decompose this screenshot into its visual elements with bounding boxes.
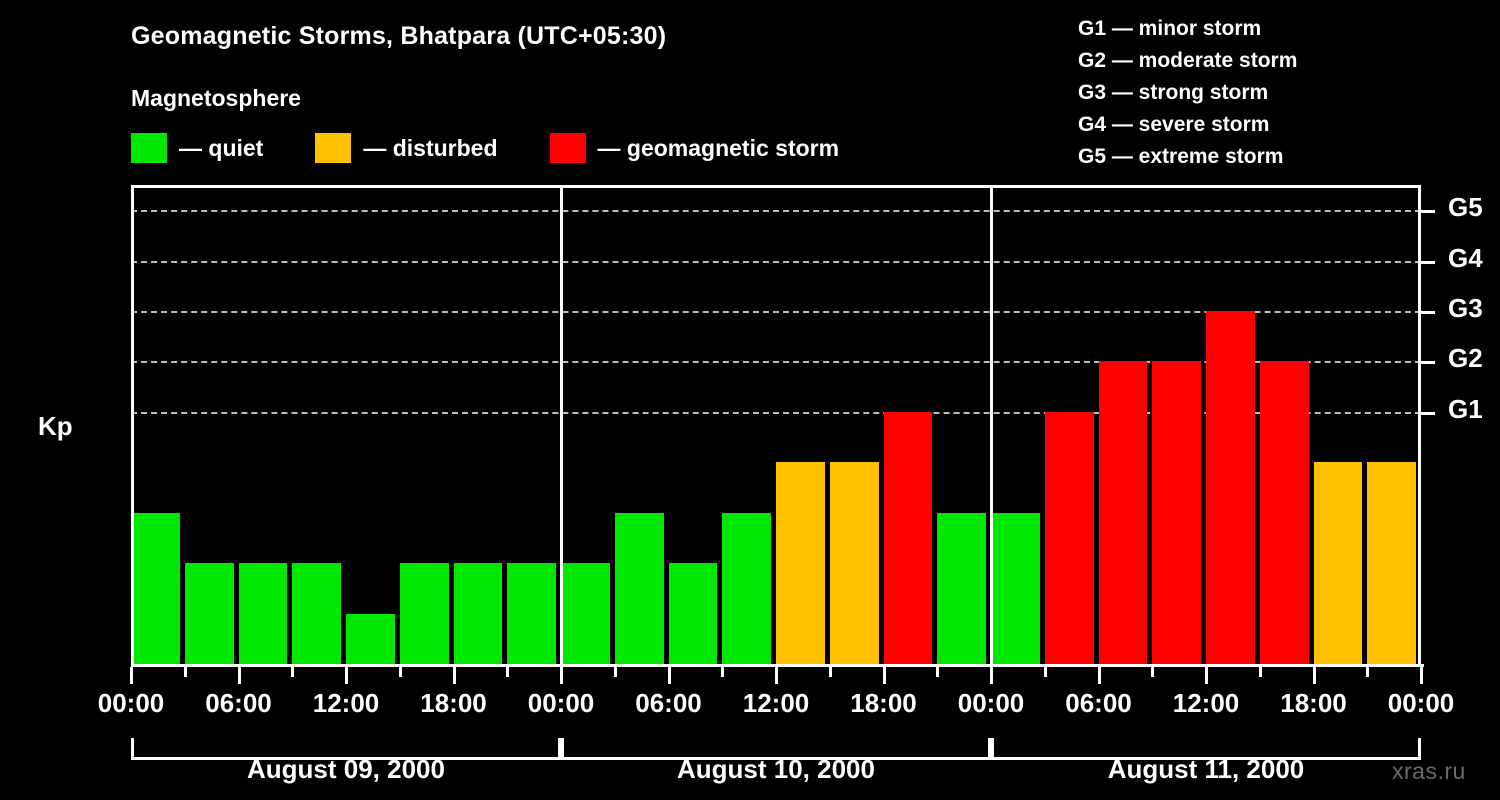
storm-scale-g4: G4 — severe storm xyxy=(1078,109,1297,141)
bar xyxy=(454,563,503,664)
storm-scale-g5: G5 — extreme storm xyxy=(1078,141,1297,173)
x-tick-minor xyxy=(399,667,402,677)
bar xyxy=(292,563,341,664)
g-tick-label-G5: G5 xyxy=(1448,192,1483,223)
watermark: xras.ru xyxy=(1392,758,1466,785)
bar xyxy=(1045,412,1094,664)
x-tick-minor xyxy=(614,667,617,677)
legend-swatch-quiet xyxy=(131,133,167,163)
x-tick-major xyxy=(560,667,563,684)
x-tick-minor xyxy=(1151,667,1154,677)
day-separator xyxy=(990,185,993,664)
x-tick-major xyxy=(668,667,671,684)
x-tick-major xyxy=(1098,667,1101,684)
bar xyxy=(722,513,771,664)
bar xyxy=(1152,361,1201,664)
bar xyxy=(1206,311,1255,664)
bar xyxy=(615,513,664,664)
bar xyxy=(131,513,180,664)
storm-scale-legend: G1 — minor storm G2 — moderate storm G3 … xyxy=(1078,13,1297,173)
bar xyxy=(1099,361,1148,664)
bar xyxy=(561,563,610,664)
x-tick-minor xyxy=(829,667,832,677)
legend-label-disturbed: — disturbed xyxy=(363,135,497,162)
bar xyxy=(884,412,933,664)
x-tick-major xyxy=(130,667,133,684)
bar xyxy=(1314,462,1363,664)
day-label: August 09, 2000 xyxy=(131,754,561,785)
x-axis-label: 00:00 xyxy=(1351,688,1491,719)
bar xyxy=(400,563,449,664)
g-tick-G3 xyxy=(1421,311,1435,314)
x-tick-major xyxy=(238,667,241,684)
x-tick-minor xyxy=(1366,667,1369,677)
bar xyxy=(1260,361,1309,664)
x-tick-minor xyxy=(184,667,187,677)
x-tick-minor xyxy=(291,667,294,677)
x-tick-major xyxy=(990,667,993,684)
g-tick-label-G4: G4 xyxy=(1448,243,1483,274)
bar-series xyxy=(131,185,1421,664)
bar xyxy=(1367,462,1416,664)
legend-item-disturbed: — disturbed xyxy=(315,133,497,163)
x-tick-minor xyxy=(721,667,724,677)
bar xyxy=(346,614,395,664)
g-tick-label-G3: G3 xyxy=(1448,293,1483,324)
g-tick-label-G2: G2 xyxy=(1448,343,1483,374)
g-tick-label-G1: G1 xyxy=(1448,394,1483,425)
bar xyxy=(507,563,556,664)
x-tick-major xyxy=(453,667,456,684)
g-tick-G1 xyxy=(1421,412,1435,415)
g-tick-G2 xyxy=(1421,361,1435,364)
x-tick-major xyxy=(1420,667,1423,684)
x-tick-major xyxy=(883,667,886,684)
x-tick-major xyxy=(775,667,778,684)
bar xyxy=(185,563,234,664)
storm-scale-g1: G1 — minor storm xyxy=(1078,13,1297,45)
legend-label-quiet: — quiet xyxy=(179,135,263,162)
bar xyxy=(937,513,986,664)
bar xyxy=(830,462,879,664)
x-tick-minor xyxy=(936,667,939,677)
section-label: Magnetosphere xyxy=(131,85,301,112)
legend-label-storm: — geomagnetic storm xyxy=(598,135,840,162)
x-tick-major xyxy=(345,667,348,684)
bar xyxy=(991,513,1040,664)
bar xyxy=(776,462,825,664)
bar xyxy=(669,563,718,664)
storm-scale-g3: G3 — strong storm xyxy=(1078,77,1297,109)
x-tick-major xyxy=(1205,667,1208,684)
legend-item-storm: — geomagnetic storm xyxy=(550,133,840,163)
g-tick-G5 xyxy=(1421,210,1435,213)
day-separator xyxy=(560,185,563,664)
y-axis-title: Kp xyxy=(38,411,73,442)
x-tick-minor xyxy=(1044,667,1047,677)
storm-scale-g2: G2 — moderate storm xyxy=(1078,45,1297,77)
color-legend: — quiet — disturbed — geomagnetic storm xyxy=(131,133,839,163)
bar xyxy=(239,563,288,664)
legend-swatch-disturbed xyxy=(315,133,351,163)
legend-swatch-storm xyxy=(550,133,586,163)
x-tick-minor xyxy=(1259,667,1262,677)
x-tick-major xyxy=(1313,667,1316,684)
legend-item-quiet: — quiet xyxy=(131,133,263,163)
x-tick-minor xyxy=(506,667,509,677)
g-tick-G4 xyxy=(1421,261,1435,264)
day-label: August 10, 2000 xyxy=(561,754,991,785)
day-label: August 11, 2000 xyxy=(991,754,1421,785)
page-title: Geomagnetic Storms, Bhatpara (UTC+05:30) xyxy=(131,22,666,51)
